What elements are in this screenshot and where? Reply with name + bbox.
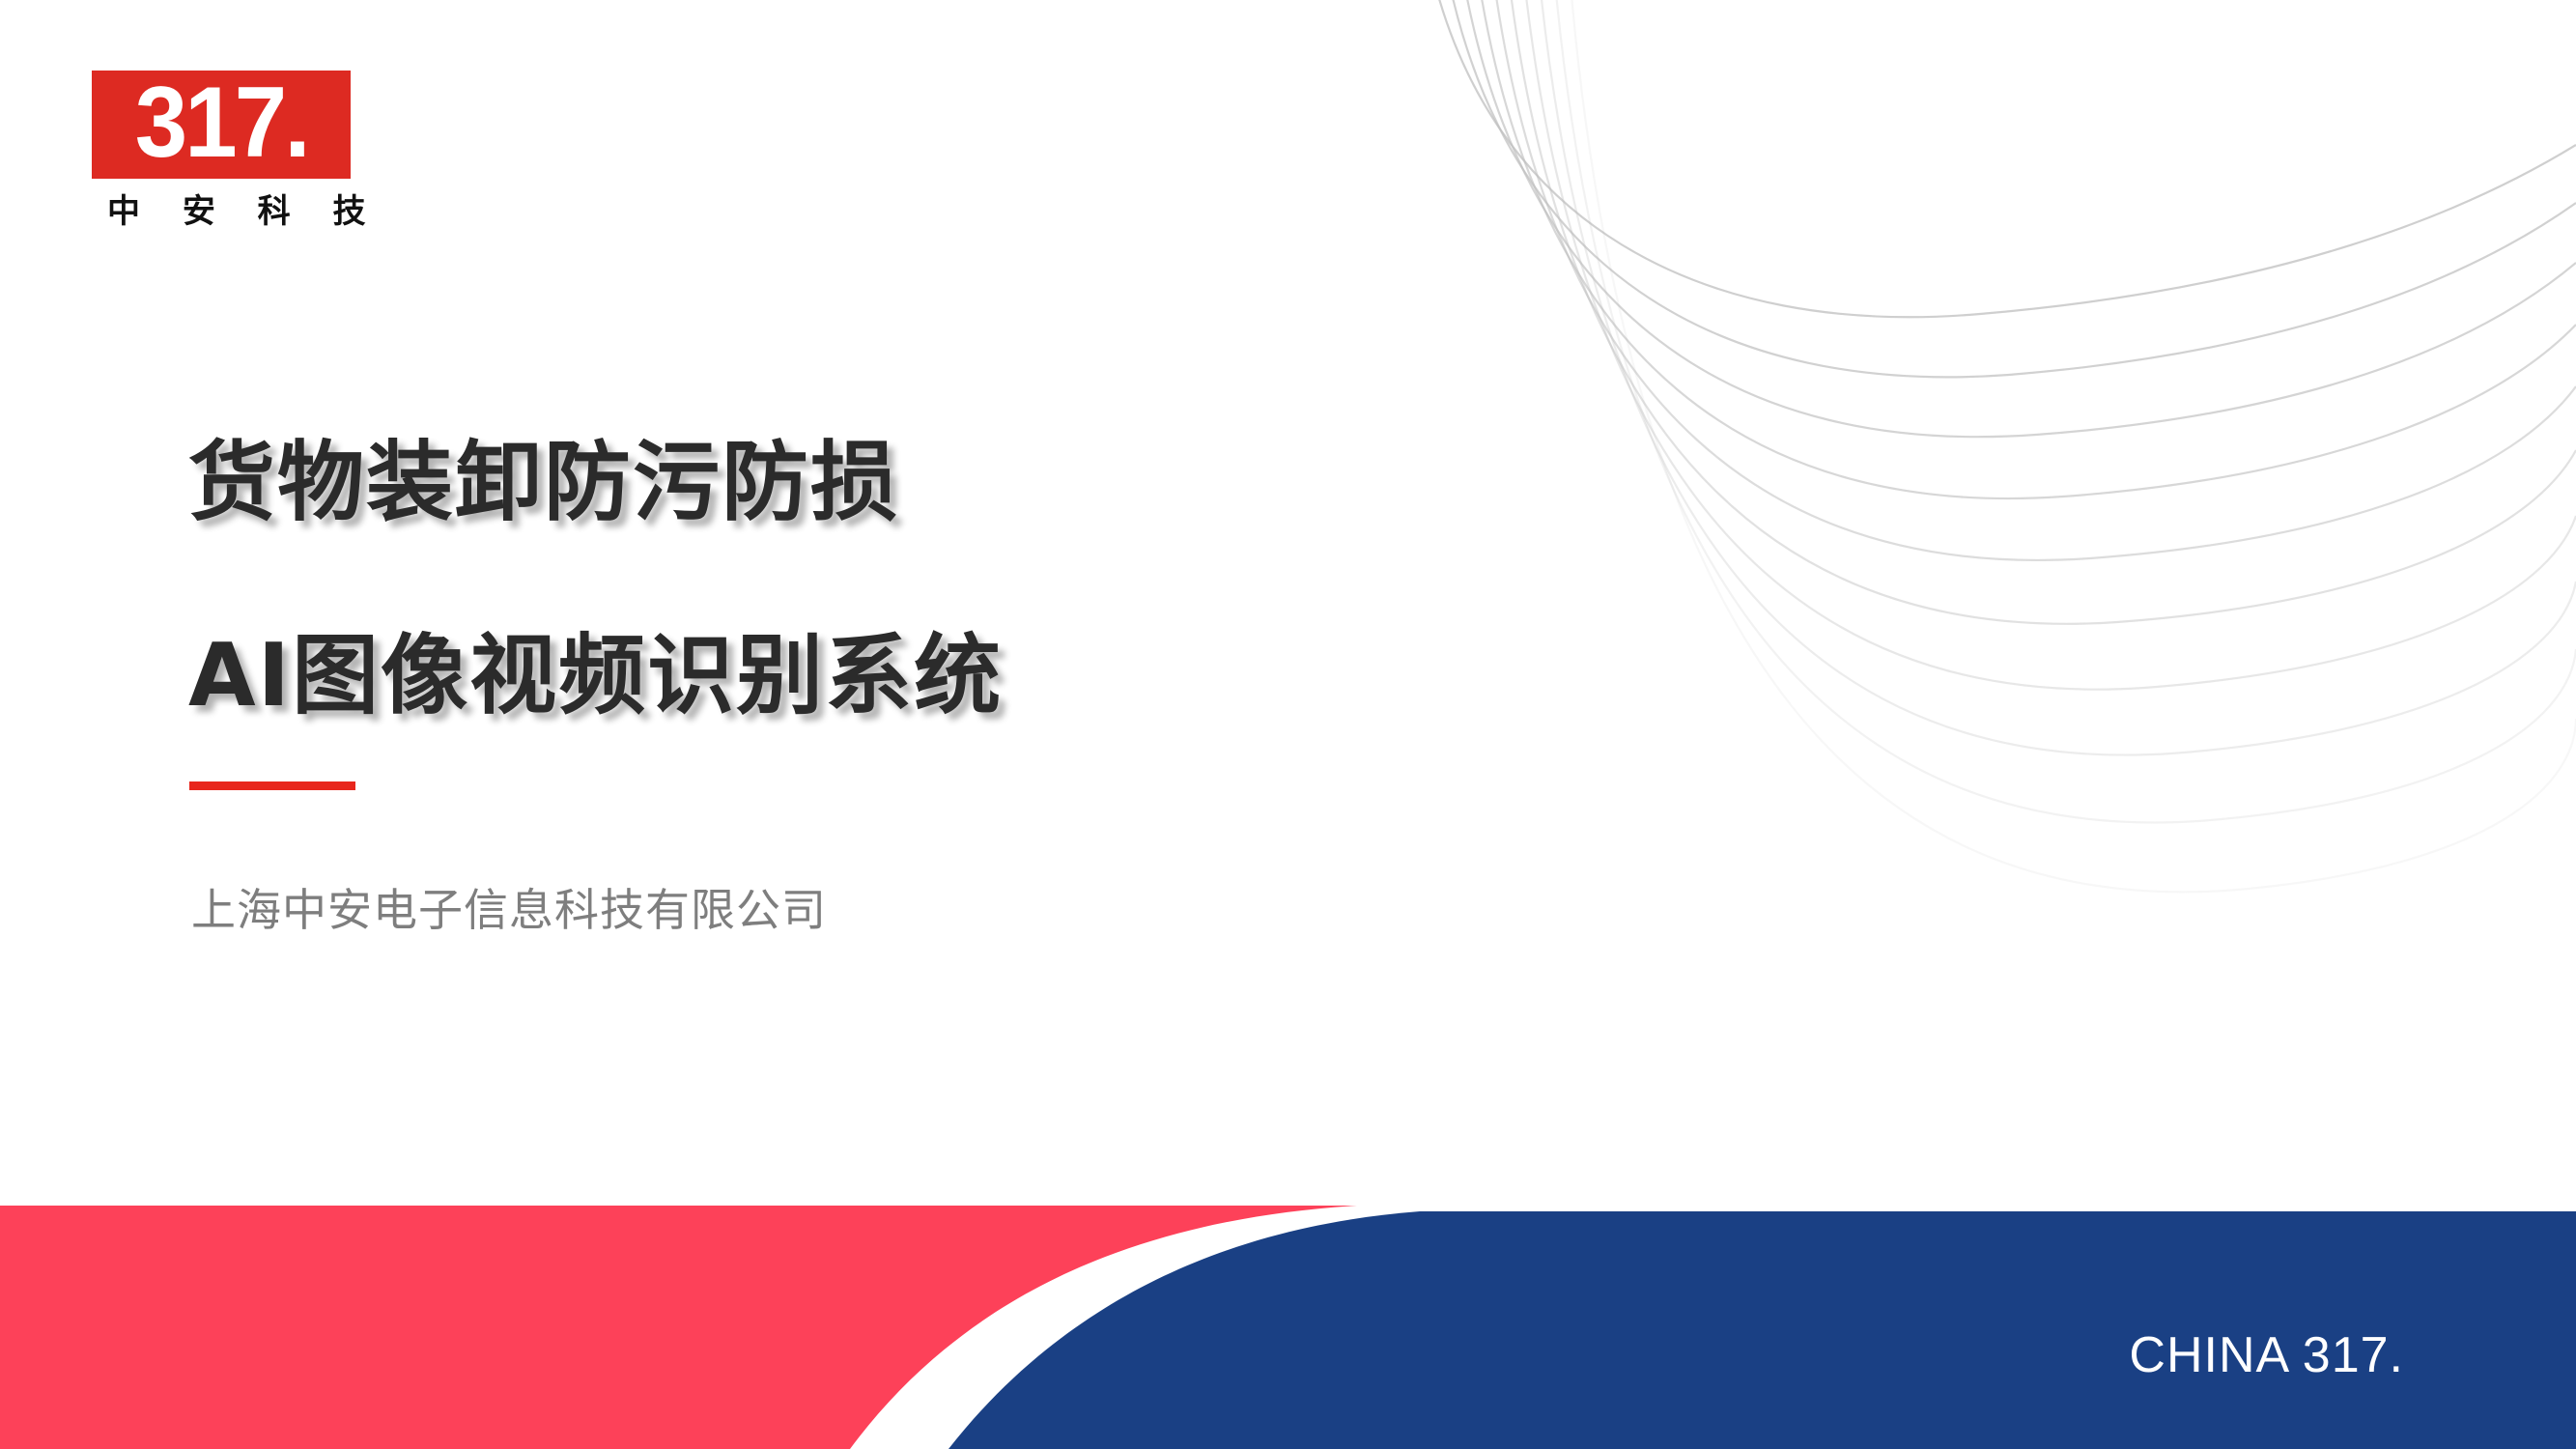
company-full-name: 上海中安电子信息科技有限公司 [191, 882, 827, 938]
logo-mark-text: 317. [134, 72, 307, 177]
footer-brand-text: CHINA 317. [2129, 1326, 2404, 1384]
page-title: 货物装卸防污防损 AI图像视频识别系统 [188, 386, 1637, 773]
page-title-line-2: AI图像视频识别系统 [188, 580, 1637, 773]
footer-band: CHINA 317. [0, 1206, 2576, 1449]
slide-canvas: 317. 中 安 科 技 货物装卸防污防损 AI图像视频识别系统 上海中安电子信… [0, 0, 2576, 1449]
title-divider-rule [189, 781, 355, 790]
logo-mark-317: 317. [92, 71, 351, 179]
page-title-line-1: 货物装卸防污防损 [188, 386, 1637, 580]
logo-company-short-name: 中 安 科 技 [92, 192, 351, 231]
company-logo: 317. 中 安 科 技 [92, 71, 351, 231]
